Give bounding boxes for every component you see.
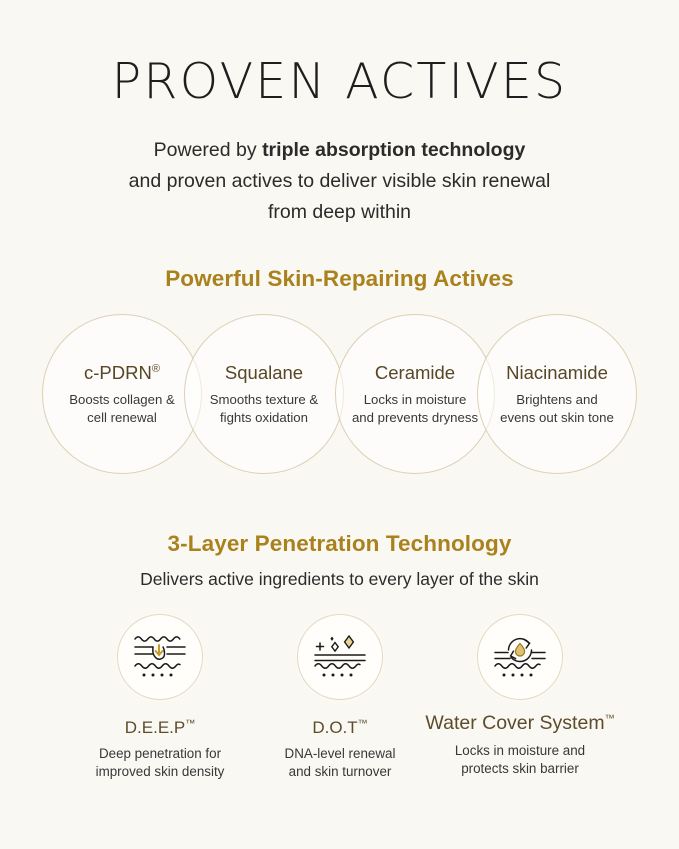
subtitle-line-1-prefix: Powered by	[154, 139, 262, 161]
technology-name: D.E.E.P™	[60, 718, 260, 738]
ingredient-name: Niacinamide	[506, 362, 608, 384]
subtitle-line-1-bold: triple absorption technology	[262, 139, 525, 161]
technology-item-row: D.E.E.P™ Deep penetration for improved s…	[0, 614, 679, 814]
technology-icon-circle	[117, 614, 203, 700]
technology-section-heading: 3-Layer Penetration Technology	[0, 531, 679, 557]
ingredient-circle-niacinamide: Niacinamide Brightens and evens out skin…	[477, 314, 637, 474]
technology-item-water-cover: Water Cover System™ Locks in moisture an…	[420, 614, 620, 778]
trademark-icon: ™	[358, 718, 368, 729]
ingredient-description: Boosts collagen & cell renewal	[46, 391, 198, 426]
ingredient-name: Squalane	[225, 362, 303, 384]
ingredient-desc-line-1: Smooths texture &	[188, 391, 340, 409]
technology-desc-line-1: Deep penetration for	[60, 745, 260, 763]
subtitle-line-2: and proven actives to deliver visible sk…	[0, 166, 679, 197]
actives-section-heading: Powerful Skin-Repairing Actives	[0, 266, 679, 292]
infographic-page: PROVEN ACTIVES Powered by triple absorpt…	[0, 0, 679, 849]
ingredient-desc-line-2: and prevents dryness	[339, 409, 491, 427]
ingredient-desc-line-1: Brightens and	[481, 391, 633, 409]
technology-description: Deep penetration for improved skin densi…	[60, 745, 260, 781]
technology-item-dot: D.O.T™ DNA-level renewal and skin turnov…	[240, 614, 440, 781]
technology-icon-circle	[297, 614, 383, 700]
ingredient-desc-line-1: Locks in moisture	[339, 391, 491, 409]
technology-desc-line-2: improved skin density	[60, 763, 260, 781]
technology-description: Locks in moisture and protects skin barr…	[420, 742, 620, 778]
technology-name: D.O.T™	[240, 718, 440, 738]
technology-description: DNA-level renewal and skin turnover	[240, 745, 440, 781]
technology-icon-circle	[477, 614, 563, 700]
skin-penetration-icon	[131, 630, 189, 685]
technology-desc-line-1: DNA-level renewal	[240, 745, 440, 763]
ingredient-description: Locks in moisture and prevents dryness	[339, 391, 491, 426]
ingredient-desc-line-1: Boosts collagen &	[46, 391, 198, 409]
trademark-icon: ™	[605, 714, 615, 725]
technology-name: Water Cover System™	[420, 712, 620, 735]
sparkle-renewal-icon	[311, 630, 369, 685]
ingredient-desc-line-2: cell renewal	[46, 409, 198, 427]
ingredient-desc-line-2: evens out skin tone	[481, 409, 633, 427]
technology-desc-line-2: protects skin barrier	[420, 760, 620, 778]
water-cover-icon	[491, 630, 549, 685]
technology-item-deep: D.E.E.P™ Deep penetration for improved s…	[60, 614, 260, 781]
ingredient-circle-c-pdrn: c-PDRN® Boosts collagen & cell renewal	[42, 314, 202, 474]
ingredient-circle-squalane: Squalane Smooths texture & fights oxidat…	[184, 314, 344, 474]
ingredient-desc-line-2: fights oxidation	[188, 409, 340, 427]
ingredient-circle-ceramide: Ceramide Locks in moisture and prevents …	[335, 314, 495, 474]
ingredient-name: c-PDRN®	[84, 362, 160, 384]
technology-desc-line-1: Locks in moisture and	[420, 742, 620, 760]
subtitle-line-3: from deep within	[0, 197, 679, 228]
ingredient-description: Smooths texture & fights oxidation	[188, 391, 340, 426]
subtitle-line-1: Powered by triple absorption technology	[0, 135, 679, 166]
subtitle-block: Powered by triple absorption technology …	[0, 135, 679, 228]
trademark-icon: ™	[185, 718, 195, 729]
ingredient-description: Brightens and evens out skin tone	[481, 391, 633, 426]
registered-mark-icon: ®	[152, 363, 160, 375]
technology-section-subheading: Delivers active ingredients to every lay…	[0, 569, 679, 590]
page-title: PROVEN ACTIVES	[0, 0, 679, 106]
technology-desc-line-2: and skin turnover	[240, 763, 440, 781]
ingredient-name: Ceramide	[375, 362, 455, 384]
ingredient-circle-row: c-PDRN® Boosts collagen & cell renewal S…	[0, 314, 679, 479]
